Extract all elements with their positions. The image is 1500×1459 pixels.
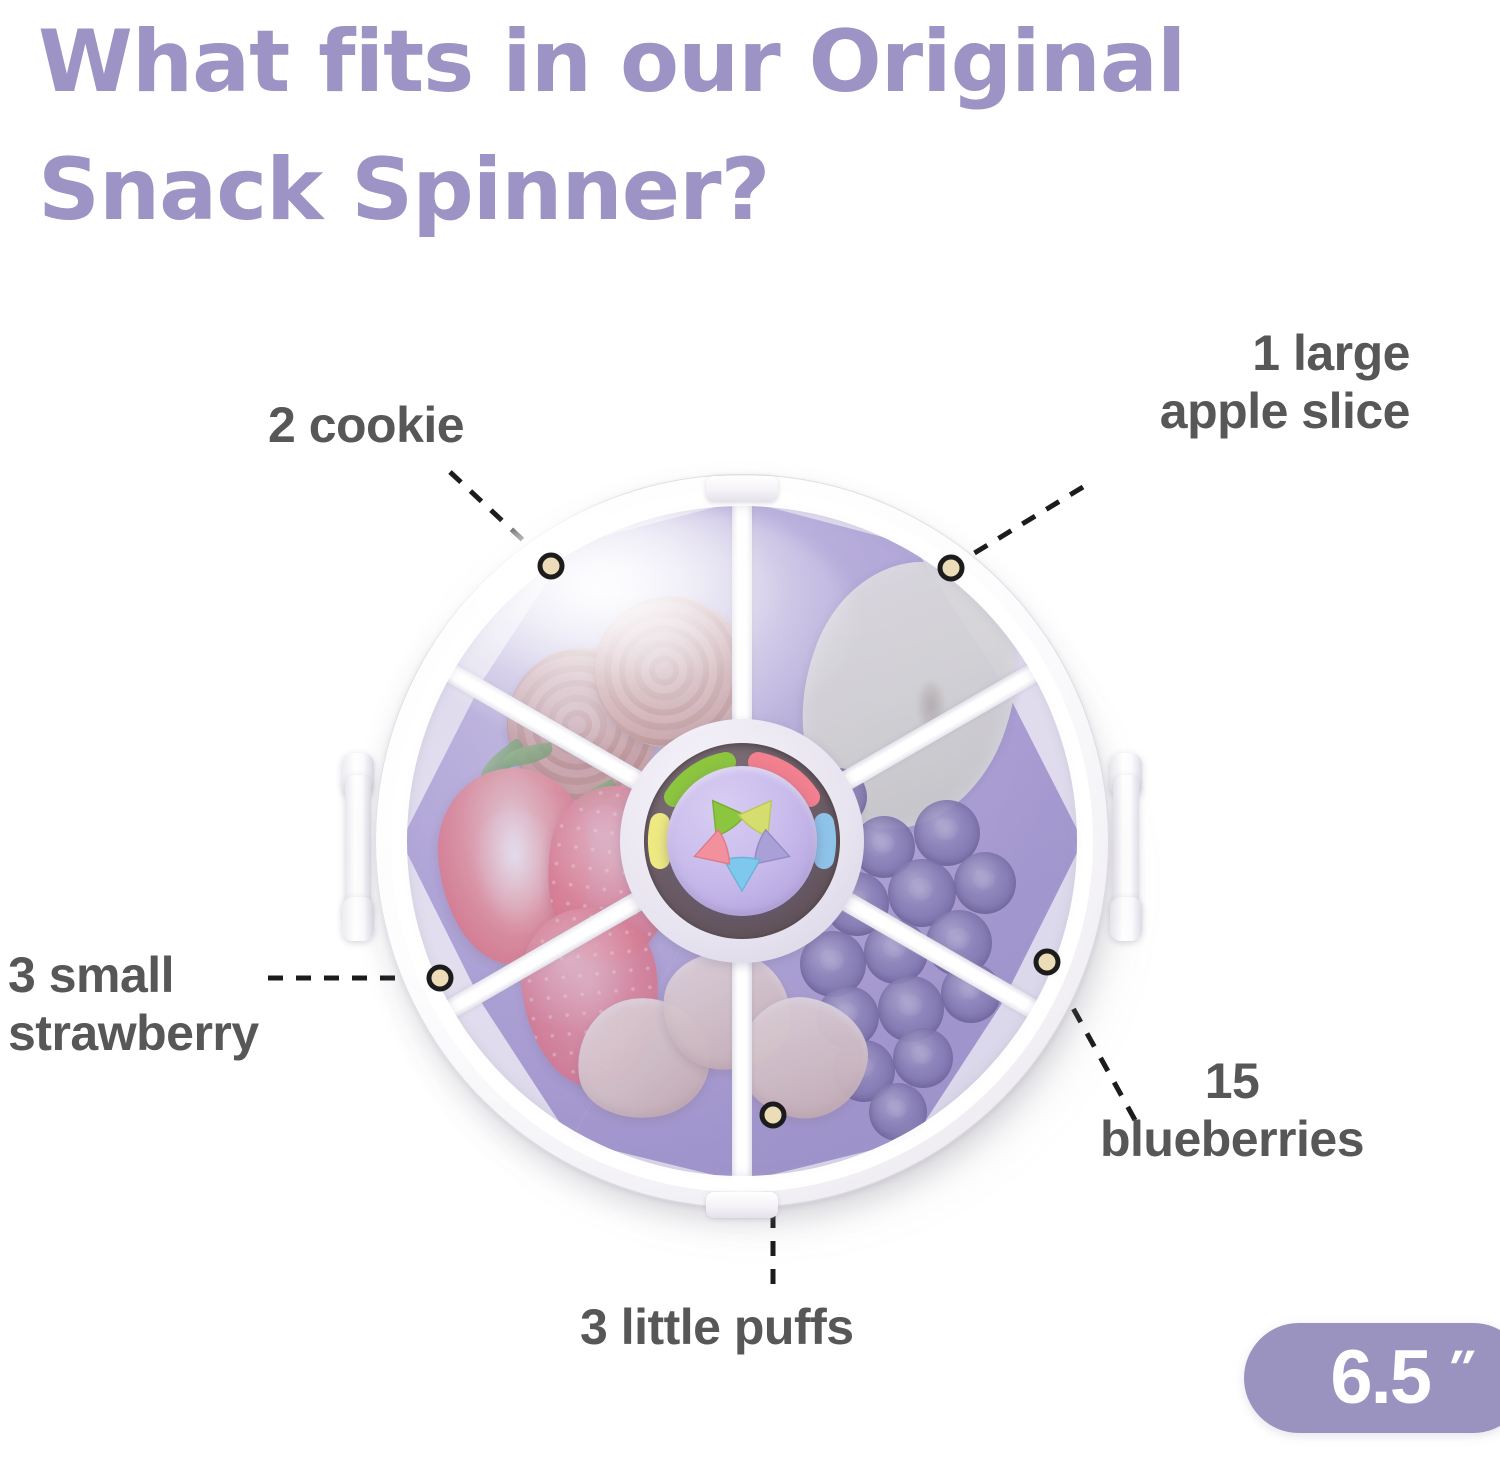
- callout-label-apple: 1 large apple slice: [990, 324, 1410, 440]
- callout-label-blueberries: 15 blueberries: [1022, 1052, 1442, 1168]
- latch-right-cap-bottom: [1110, 897, 1142, 941]
- compartment-disc: [401, 500, 1083, 1182]
- lid-tab-top[interactable]: [706, 476, 778, 502]
- blueberry: [954, 852, 1016, 914]
- arc-yellow: [658, 823, 660, 859]
- latch-right[interactable]: [1109, 753, 1143, 941]
- callout-label-cookie: 2 cookie: [268, 396, 464, 454]
- size-badge-value: 6.5: [1330, 1340, 1430, 1416]
- blueberry: [869, 1083, 927, 1141]
- lid-tab-bottom[interactable]: [706, 1192, 778, 1218]
- hinge-left[interactable]: [341, 753, 375, 941]
- page-title: What fits in our Original Snack Spinner?: [38, 0, 1478, 254]
- size-badge-unit: ″: [1443, 1343, 1478, 1393]
- size-badge: 6.5 ″: [1244, 1323, 1500, 1433]
- arc-blue: [824, 823, 826, 859]
- callout-label-puffs: 3 little puffs: [580, 1298, 854, 1356]
- callout-label-strawberry: 3 small strawberry: [8, 946, 259, 1062]
- blueberry: [893, 1028, 953, 1088]
- hinge-left-cap-bottom: [342, 897, 374, 941]
- snack-spinner-product: [347, 452, 1137, 1242]
